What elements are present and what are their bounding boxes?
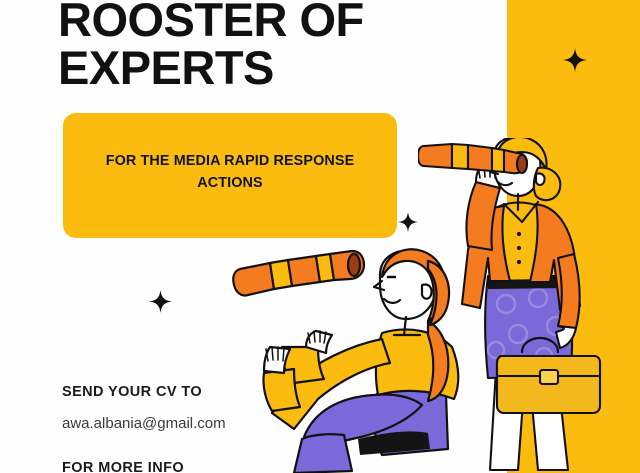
poster-canvas: AWA ALBANIA ROOSTER OF EXPERTS FOR THE M… [0,0,640,473]
subtitle-box: FOR THE MEDIA RAPID RESPONSE ACTIONS [63,113,397,238]
headline-line-1: ROOSTER OF [58,0,364,46]
more-info-label: FOR MORE INFO [62,459,362,473]
contact-block: SEND YOUR CV TO awa.albania@gmail.com FO… [62,383,362,473]
sparkle-icon [563,48,587,72]
sparkle-icon [398,212,418,232]
headline-line-2: EXPERTS [58,44,478,92]
page-title: ROOSTER OF EXPERTS [58,0,478,92]
send-cv-label: SEND YOUR CV TO [62,383,362,401]
subtitle-line-1: FOR THE MEDIA RAPID RESPONSE [106,153,355,169]
sparkle-icon [149,290,172,313]
subtitle-line-2: ACTIONS [197,175,262,191]
subtitle-text: FOR THE MEDIA RAPID RESPONSE ACTIONS [63,150,397,194]
contact-email[interactable]: awa.albania@gmail.com [62,415,362,433]
